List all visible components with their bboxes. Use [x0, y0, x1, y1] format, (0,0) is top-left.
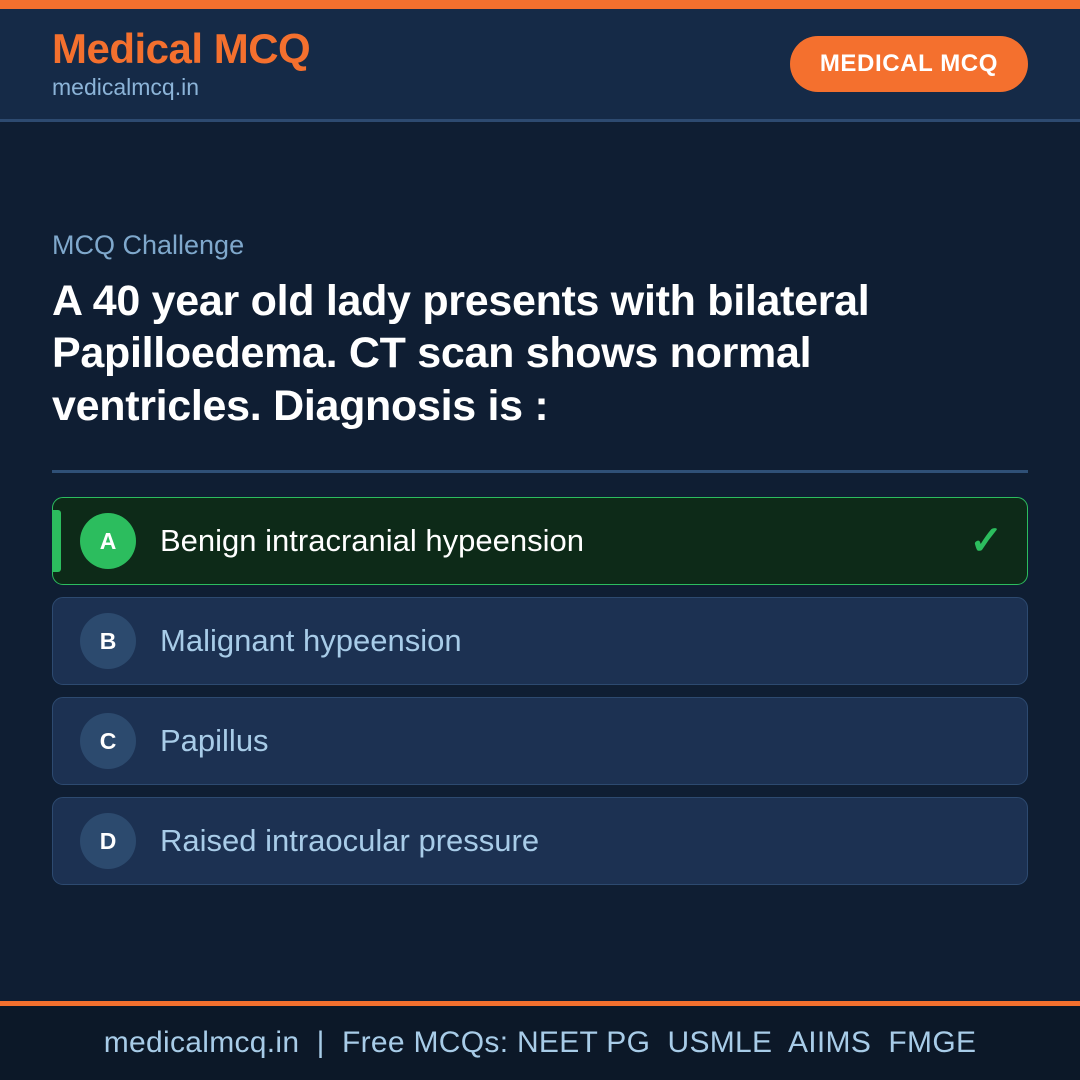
footer-text: medicalmcq.in | Free MCQs: NEET PG USMLE… [104, 1026, 977, 1060]
checkmark-icon: ✓ [959, 521, 1003, 561]
page-footer: medicalmcq.in | Free MCQs: NEET PG USMLE… [0, 1001, 1080, 1080]
question-text: A 40 year old lady presents with bilater… [52, 275, 1012, 432]
option-letter-a: A [80, 513, 136, 569]
options-list: A Benign intracranial hypeension ✓ B Mal… [52, 497, 1028, 885]
section-eyebrow: MCQ Challenge [52, 230, 1028, 261]
page-header: Medical MCQ medicalmcq.in MEDICAL MCQ [0, 9, 1080, 122]
brand-badge: MEDICAL MCQ [790, 36, 1028, 92]
question-divider [52, 470, 1028, 473]
option-letter-c: C [80, 713, 136, 769]
option-row-a[interactable]: A Benign intracranial hypeension ✓ [52, 497, 1028, 585]
option-letter-d: D [80, 813, 136, 869]
option-text-b: Malignant hypeension [160, 623, 959, 659]
option-row-b[interactable]: B Malignant hypeension [52, 597, 1028, 685]
option-row-c[interactable]: C Papillus [52, 697, 1028, 785]
option-text-d: Raised intraocular pressure [160, 823, 959, 859]
main-content: MCQ Challenge A 40 year old lady present… [0, 122, 1080, 1001]
option-letter-b: B [80, 613, 136, 669]
brand-subtitle: medicalmcq.in [52, 73, 310, 102]
top-accent-bar [0, 0, 1080, 9]
brand-title: Medical MCQ [52, 27, 310, 71]
option-text-c: Papillus [160, 723, 959, 759]
option-row-d[interactable]: D Raised intraocular pressure [52, 797, 1028, 885]
brand-block: Medical MCQ medicalmcq.in [52, 27, 310, 102]
option-text-a: Benign intracranial hypeension [160, 523, 959, 559]
correct-accent-bar [53, 510, 61, 572]
